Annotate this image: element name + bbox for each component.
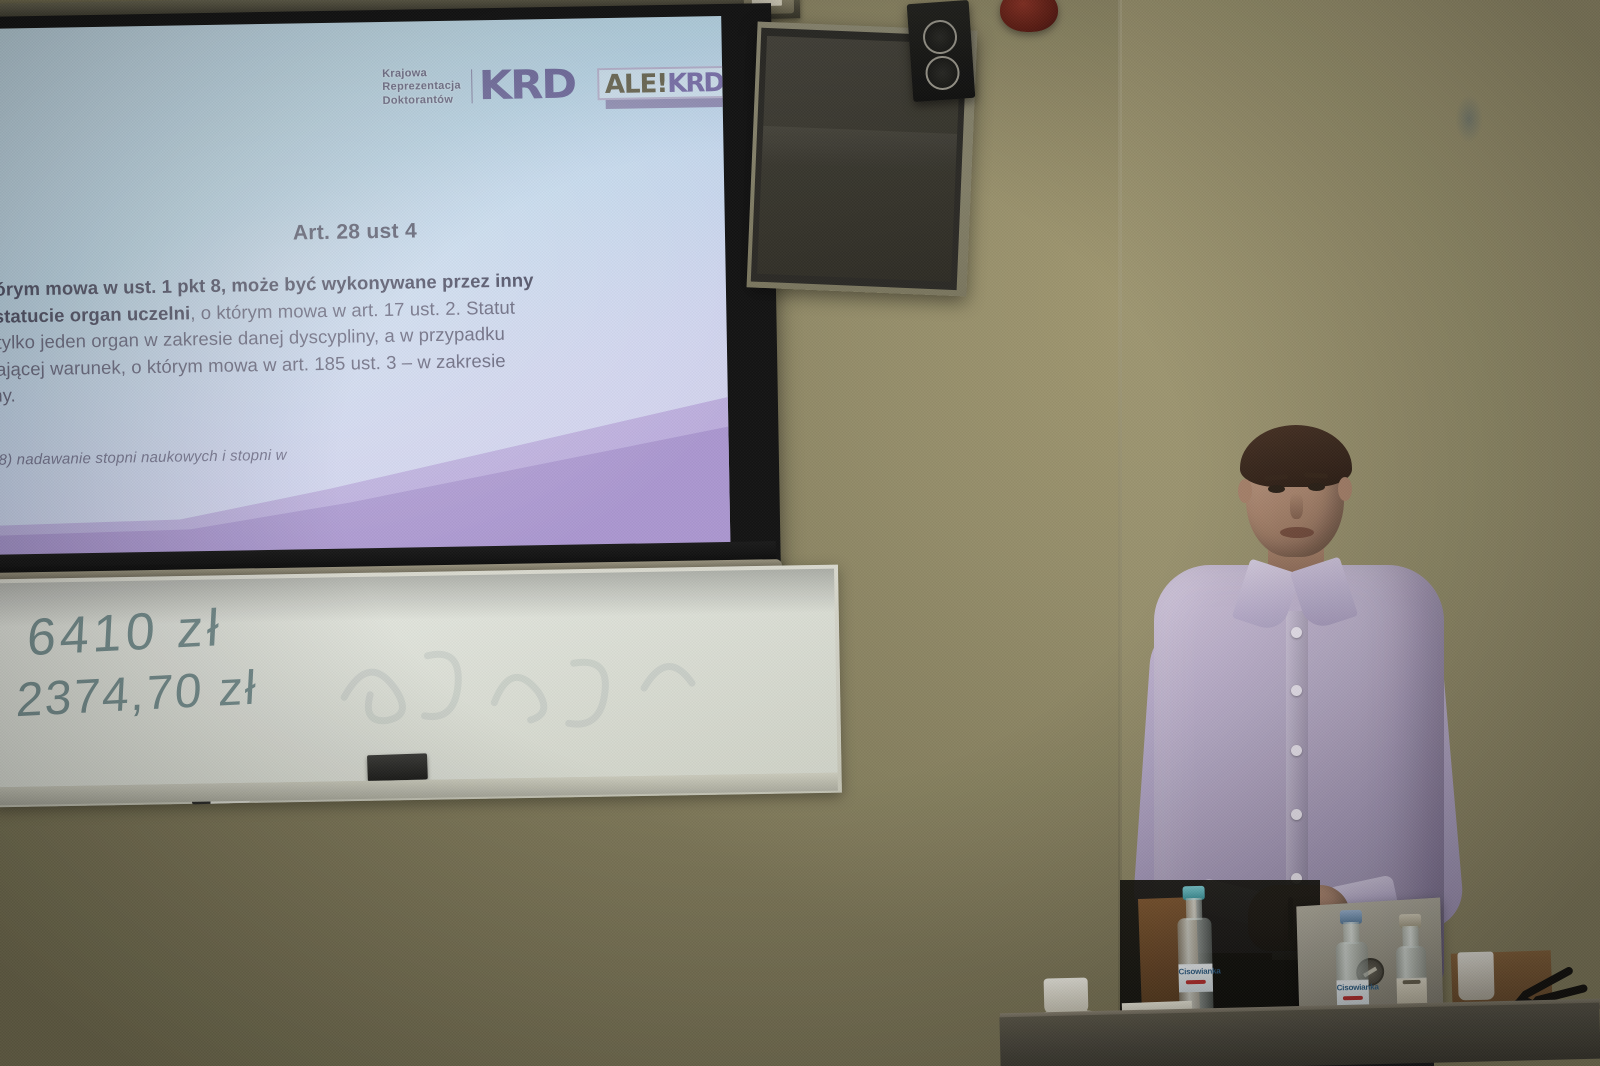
krd-logo-mark: KRD	[478, 67, 575, 105]
bottle-neck	[1343, 922, 1360, 944]
krd-logo-words: Krajowa Reprezentacja Doktorantów	[382, 67, 461, 109]
alekrd-prefix: ALE!	[605, 69, 668, 100]
bottle-label-accent	[1343, 996, 1362, 1000]
alekrd-logo-text: ALE!KRD	[605, 70, 723, 98]
slide-body-text: danie, o którym mowa w ust. 1 pkt 8, moż…	[0, 265, 694, 411]
bottle-neck	[1186, 898, 1203, 920]
conference-room-photo: Krajowa Reprezentacja Doktorantów KRD AL…	[0, 0, 1600, 1066]
alekrd-logo-box: ALE!KRD	[597, 66, 731, 100]
bottle-label-accent	[1186, 980, 1206, 984]
krd-logo-divider	[471, 69, 473, 103]
presenter-ear-right	[1338, 477, 1352, 501]
shirt-button	[1291, 745, 1302, 756]
shirt-button	[1291, 627, 1302, 638]
krd-logo: Krajowa Reprezentacja Doktorantów KRD AL…	[382, 62, 730, 108]
presenter-mouth	[1280, 527, 1314, 538]
whiteboard-eraser[interactable]	[367, 753, 428, 781]
bottle-label-text: Cisowianka	[1178, 965, 1212, 980]
whiteboard-amount-2: 2374,70 zł	[15, 660, 259, 728]
speaker-cone-bottom	[924, 55, 960, 91]
alekrd-mark: KRD	[667, 68, 723, 99]
presenter-eye-right	[1308, 483, 1325, 491]
whiteboard-surface: 6410 zł 2374,70 zł	[0, 569, 838, 788]
projection-screen: Krajowa Reprezentacja Doktorantów KRD AL…	[0, 3, 781, 587]
slide-heading: Art. 28 ust 4	[0, 214, 725, 251]
bottle-neck	[1402, 926, 1419, 948]
bottle-label-accent	[1403, 980, 1421, 984]
whiteboard-amount-1: 6410 zł	[26, 598, 225, 668]
presenter-nose	[1290, 493, 1303, 519]
wall-speaker	[907, 0, 976, 102]
wall-smudge	[1455, 95, 1483, 143]
presenter-hair	[1240, 425, 1352, 487]
coffee-cup[interactable]	[1044, 977, 1089, 1014]
shirt-button	[1291, 685, 1302, 696]
bottle-label-text: Cisowianka	[1337, 981, 1369, 996]
shirt-button	[1291, 809, 1302, 820]
presenter-ear-left	[1238, 479, 1252, 503]
slide-surface: Krajowa Reprezentacja Doktorantów KRD AL…	[0, 16, 730, 557]
whiteboard-ghost-writing	[323, 620, 745, 747]
speaker-cone-top	[922, 19, 958, 55]
monitor-screen-sheen	[762, 126, 957, 172]
whiteboard: 6410 zł 2374,70 zł	[0, 565, 842, 808]
alekrd-logo-bar	[605, 98, 730, 109]
bottle-label: Cisowianka	[1178, 964, 1213, 993]
presenter-eye-left	[1268, 485, 1285, 493]
